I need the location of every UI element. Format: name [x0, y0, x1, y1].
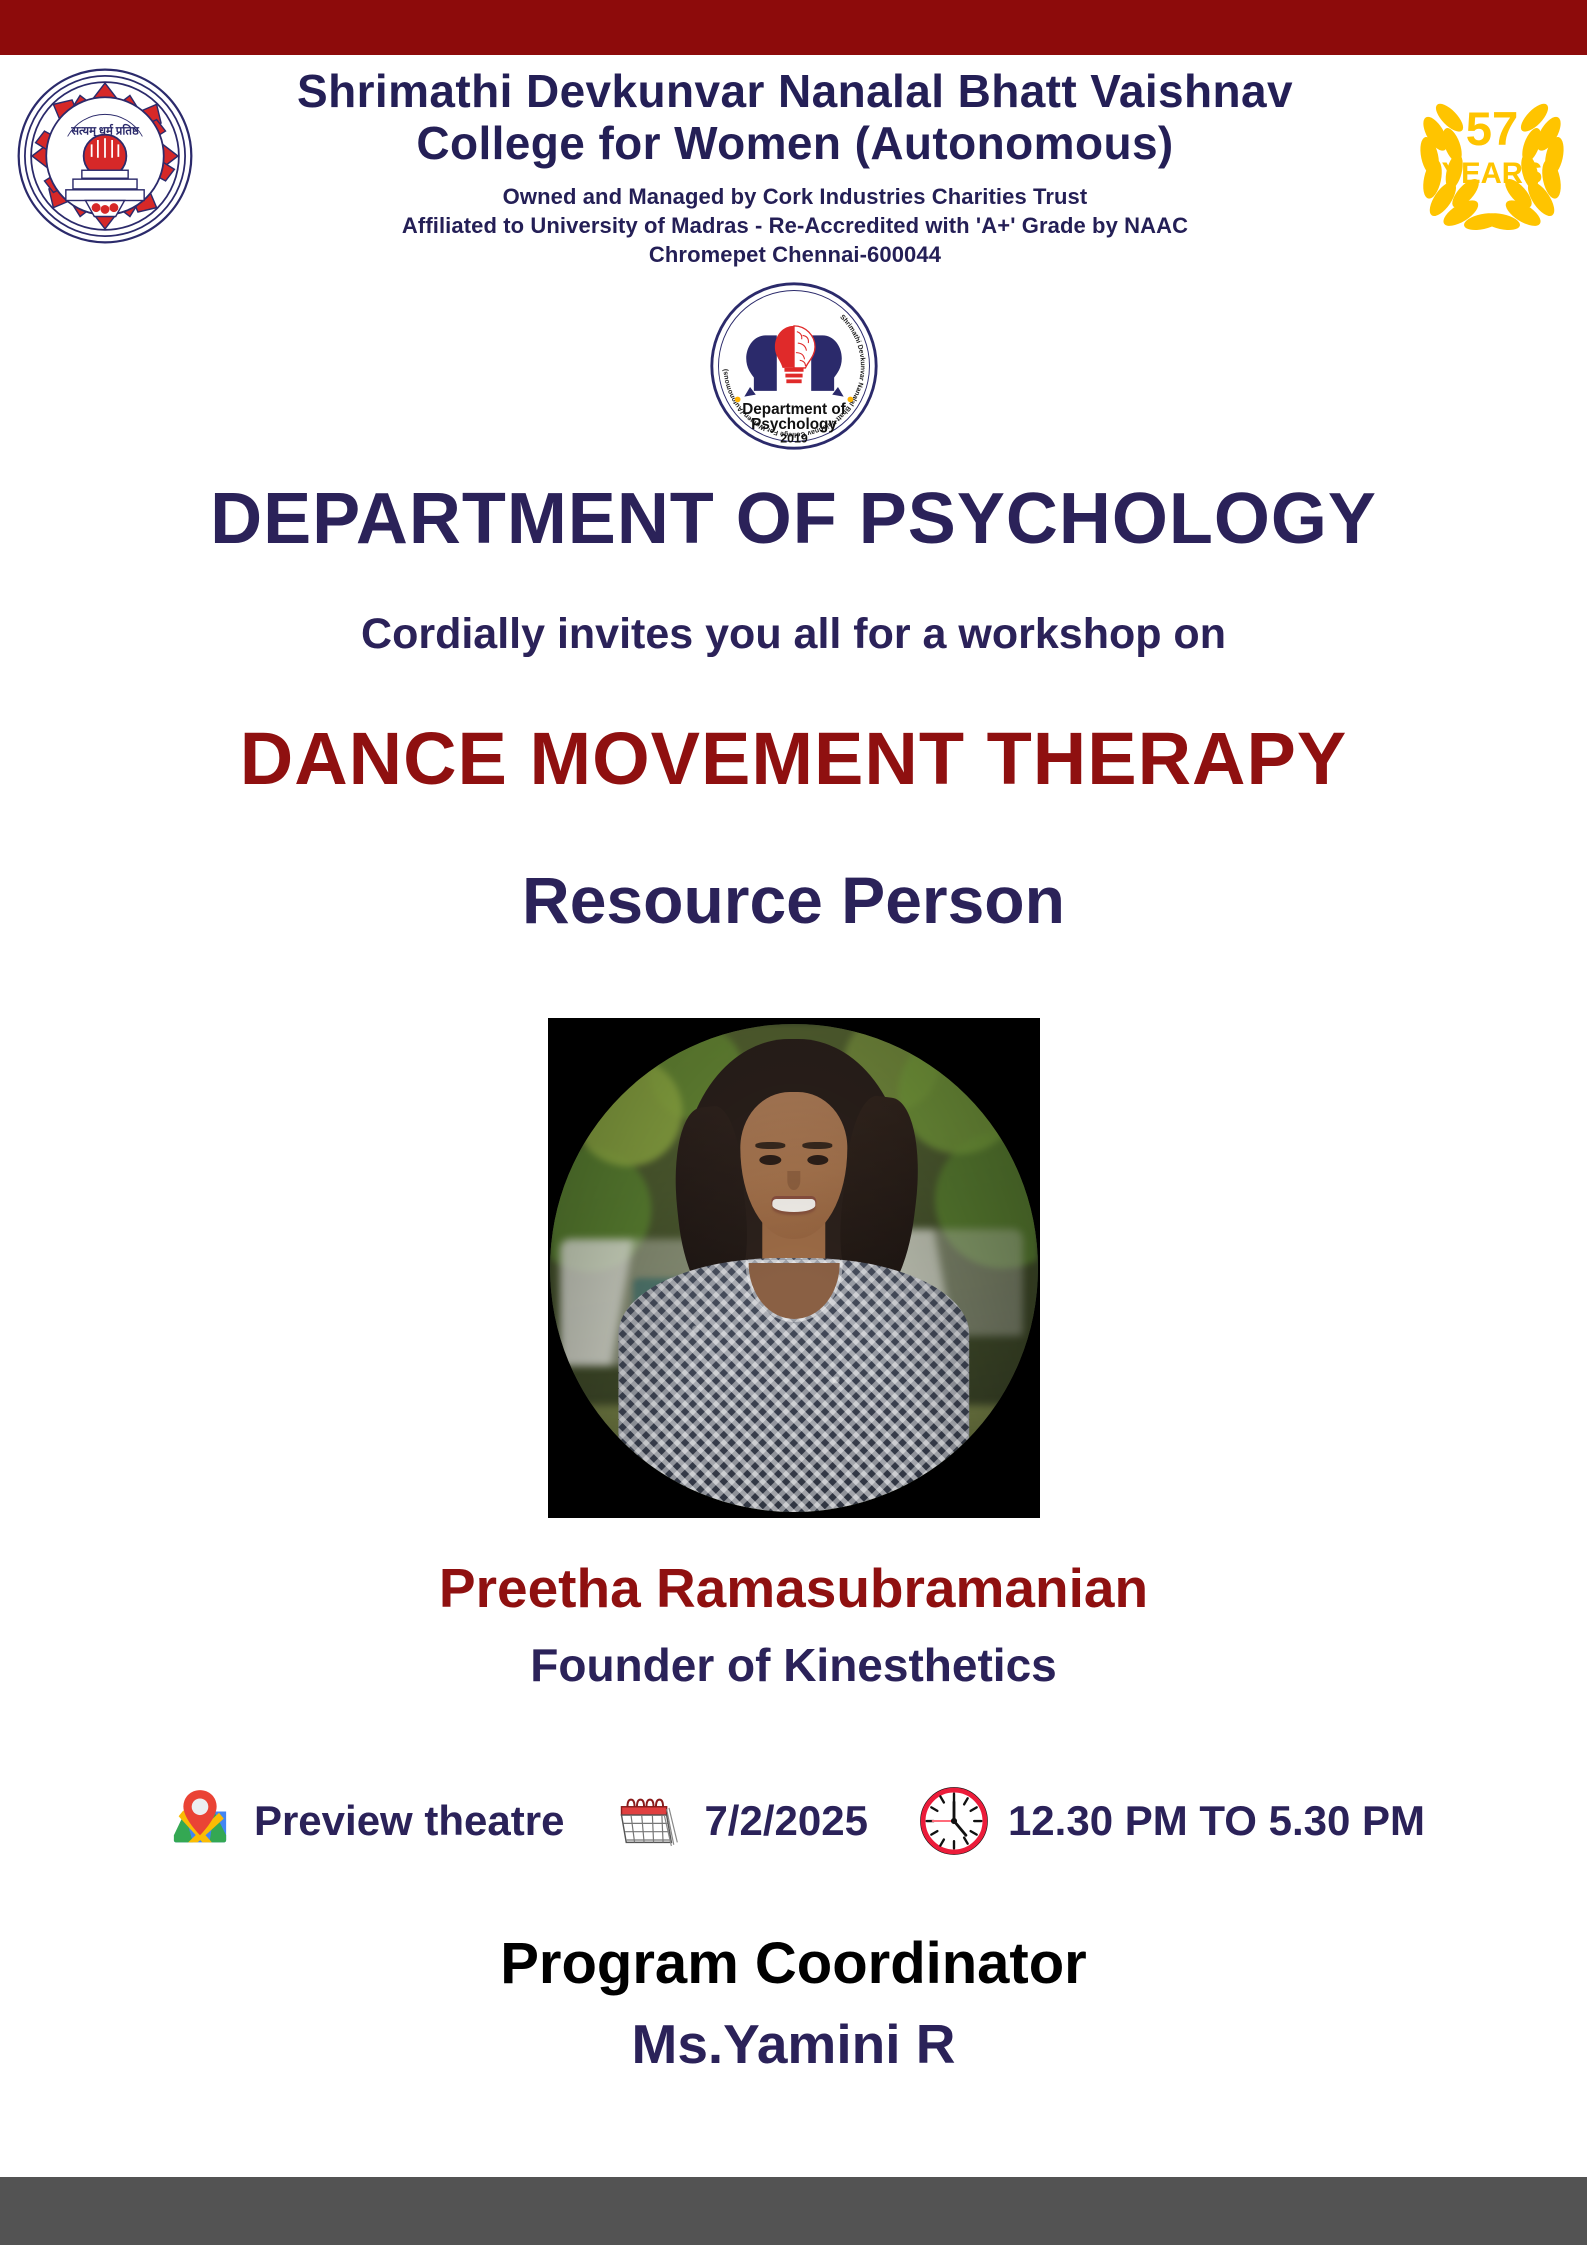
college-subtitle-line-1: Owned and Managed by Cork Industries Cha…: [215, 182, 1375, 211]
map-pin-icon: [162, 1783, 238, 1859]
page-title: DEPARTMENT OF PSYCHOLOGY: [0, 478, 1587, 560]
college-subtitle-line-3: Chromepet Chennai-600044: [215, 240, 1375, 269]
detail-time-text: 12.30 PM TO 5.30 PM: [1008, 1797, 1425, 1845]
detail-date-text: 7/2/2025: [704, 1797, 868, 1845]
coordinator-label: Program Coordinator: [0, 1930, 1587, 1997]
resource-person-heading: Resource Person: [0, 862, 1587, 938]
clock-icon: [916, 1783, 992, 1859]
detail-venue-text: Preview theatre: [254, 1797, 565, 1845]
department-logo-container: Shrimathi Devkunvar Nanalal Bhatt Vaishn…: [0, 280, 1587, 452]
college-header-text: Shrimathi Devkunvar Nanalal Bhatt Vaishn…: [215, 55, 1375, 269]
speaker-name: Preetha Ramasubramanian: [0, 1556, 1587, 1620]
speaker-role: Founder of Kinesthetics: [0, 1638, 1587, 1692]
laurel-wreath-icon: 57 YEARS: [1407, 73, 1577, 238]
college-subtitle-line-2: Affiliated to University of Madras - Re-…: [215, 211, 1375, 240]
speaker-photo-frame: [548, 1018, 1040, 1518]
detail-venue: Preview theatre: [162, 1783, 565, 1859]
invitation-line: Cordially invites you all for a workshop…: [0, 610, 1587, 659]
dept-logo-year: 2019: [780, 431, 808, 445]
college-name-line-1: Shrimathi Devkunvar Nanalal Bhatt Vaishn…: [215, 65, 1375, 117]
psychology-department-logo-icon: Shrimathi Devkunvar Nanalal Bhatt Vaishn…: [708, 280, 880, 452]
college-name-line-2: College for Women (Autonomous): [215, 117, 1375, 169]
bottom-bar: [0, 2177, 1587, 2245]
years-badge-number: 57: [1466, 103, 1519, 156]
speaker-portrait: [550, 1024, 1038, 1512]
workshop-title: DANCE MOVEMENT THERAPY: [0, 716, 1587, 801]
photo-vignette: [550, 1024, 1038, 1512]
detail-date: 7/2/2025: [612, 1783, 868, 1859]
event-details-row: Preview theatre: [0, 1768, 1587, 1873]
detail-time: 12.30 PM TO 5.30 PM: [916, 1783, 1425, 1859]
calendar-icon: [612, 1783, 688, 1859]
years-badge-label: YEARS: [1442, 158, 1543, 190]
top-accent-bar: [0, 0, 1587, 55]
poster-header: सत्यम् धर्म प्रतिष्ठ Shrimathi Devkunvar…: [0, 55, 1587, 270]
poster-root: सत्यम् धर्म प्रतिष्ठ Shrimathi Devkunvar…: [0, 0, 1587, 2245]
college-crest-icon: सत्यम् धर्म प्रतिष्ठ: [16, 67, 194, 245]
coordinator-name: Ms.Yamini R: [0, 2012, 1587, 2076]
